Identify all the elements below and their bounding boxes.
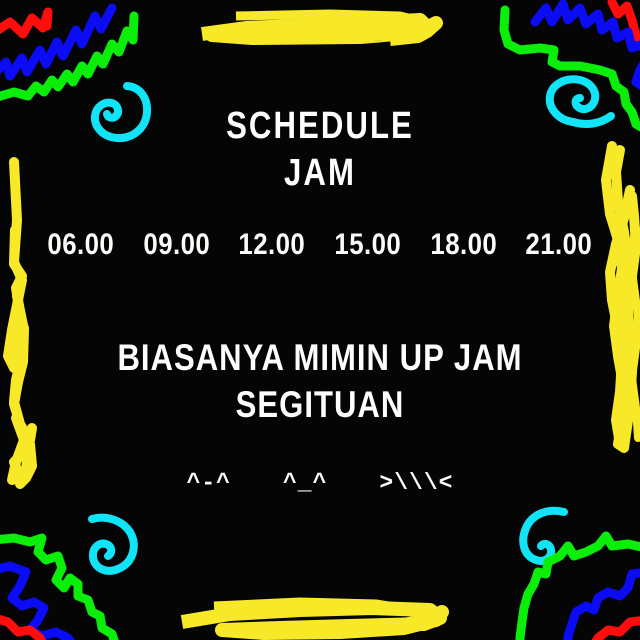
schedule-time-5: 21.00 [526,228,593,262]
poster-canvas: SCHEDULE JAM 06.00 09.00 12.00 15.00 18.… [0,0,640,640]
poster-title-line-2: JAM [58,150,583,197]
kaomoji-2: >\\\< [379,470,453,496]
poster-headline-line-1: BIASANYA MIMIN UP JAM [51,334,589,381]
schedule-time-3: 15.00 [334,228,401,262]
kaomoji-1: ^_^ [283,470,327,496]
schedule-time-4: 18.00 [430,228,497,262]
poster-title-line-1: SCHEDULE [58,103,583,150]
schedule-time-0: 06.00 [48,228,115,262]
schedule-times-row: 06.00 09.00 12.00 15.00 18.00 21.00 [0,228,640,262]
poster-headline-line-2: SEGITUAN [51,381,589,428]
schedule-time-1: 09.00 [143,228,210,262]
poster-content: SCHEDULE JAM 06.00 09.00 12.00 15.00 18.… [0,0,640,640]
kaomoji-row: ^-^ ^_^ >\\\< [0,470,640,496]
kaomoji-0: ^-^ [187,470,231,496]
poster-headline: BIASANYA MIMIN UP JAM SEGITUAN [0,334,640,428]
schedule-time-2: 12.00 [239,228,306,262]
poster-title: SCHEDULE JAM [0,103,640,197]
